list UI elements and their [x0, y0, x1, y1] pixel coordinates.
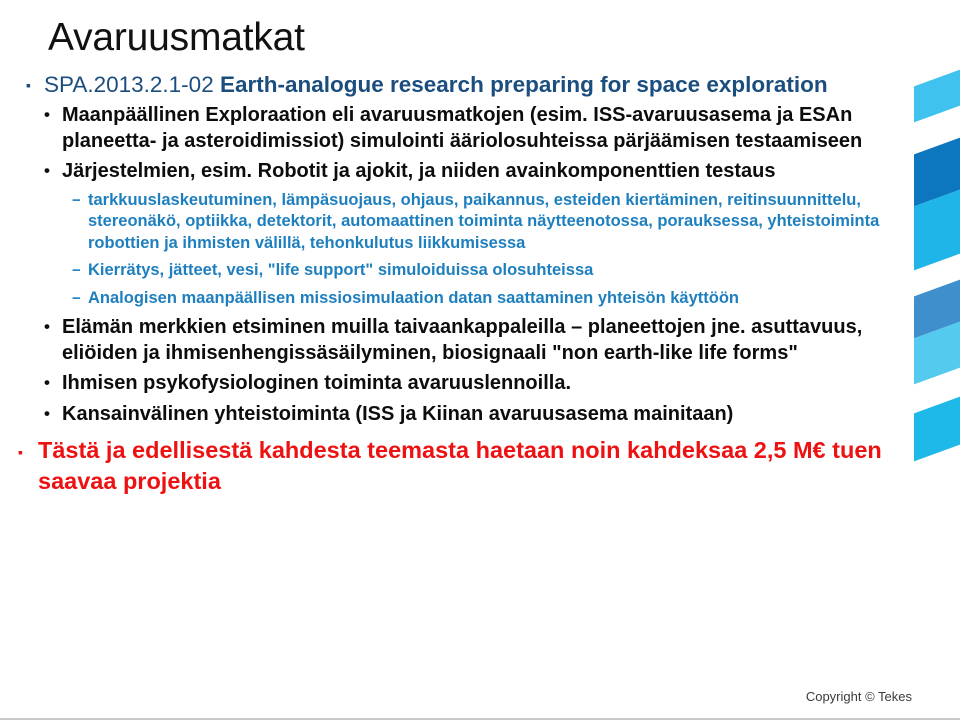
slide-body: ▪ SPA.2013.2.1-02 Earth-analogue researc… [0, 70, 915, 497]
decor-shape-3-bottom-segment [914, 322, 960, 385]
bullet-emphasis-funding-text: Tästä ja edellisestä kahdesta teemasta h… [38, 435, 915, 497]
sub-bullet-2-1: − tarkkuuslaskeutuminen, lämpäsuojaus, o… [72, 190, 915, 255]
dash-bullet-icon: − [72, 190, 81, 212]
decor-shape-3 [914, 288, 960, 376]
bullet-list-level-3: − tarkkuuslaskeutuminen, lämpäsuojaus, o… [0, 190, 915, 310]
bullet-item-1-text: Maanpäällinen Exploraation eli avaruusma… [62, 103, 915, 154]
dot-bullet-icon: • [44, 102, 50, 128]
bullet-emphasis-funding: ▪ Tästä ja edellisestä kahdesta teemasta… [18, 435, 915, 497]
bullet-item-3-text: Elämän merkkien etsiminen muilla taivaan… [62, 315, 915, 366]
bullet-item-1: • Maanpäällinen Exploraation eli avaruus… [44, 103, 915, 154]
dash-bullet-icon: − [72, 260, 81, 282]
decor-shape-4 [914, 405, 960, 453]
decor-shape-2-bottom-segment [914, 190, 960, 271]
dot-bullet-icon: • [44, 158, 50, 184]
decor-shape-2-top-segment [914, 138, 960, 207]
bullet-item-5: • Kansainvälinen yhteistoiminta (ISS ja … [44, 402, 915, 428]
bullet-list-level-1: ▪ SPA.2013.2.1-02 Earth-analogue researc… [0, 70, 915, 497]
call-code: SPA.2013.2.1-02 [44, 72, 220, 97]
bullet-item-2-text: Järjestelmien, esim. Robotit ja ajokit, … [62, 159, 915, 185]
decor-shape-1 [914, 78, 960, 114]
sub-bullet-2-2-text: Kierrätys, jätteet, vesi, "life support"… [88, 260, 915, 282]
dot-bullet-icon: • [44, 370, 50, 396]
sub-bullet-2-2: − Kierrätys, jätteet, vesi, "life suppor… [72, 260, 915, 282]
call-title: Earth-analogue research preparing for sp… [220, 72, 828, 97]
square-bullet-icon: ▪ [26, 71, 31, 100]
dash-bullet-icon: − [72, 288, 81, 310]
square-bullet-icon: ▪ [18, 437, 23, 468]
decor-shape-2 [914, 146, 960, 262]
sub-bullet-2-1-text: tarkkuuslaskeutuminen, lämpäsuojaus, ohj… [88, 190, 915, 255]
decor-shape-1-segment [914, 70, 960, 123]
bullet-item-3: • Elämän merkkien etsiminen muilla taiva… [44, 315, 915, 366]
bullet-item-4-text: Ihmisen psykofysiologinen toiminta avaru… [62, 371, 915, 397]
decor-shape-3-top-segment [914, 280, 960, 339]
dot-bullet-icon: • [44, 314, 50, 340]
bullet-item-5-text: Kansainvälinen yhteistoiminta (ISS ja Ki… [62, 402, 915, 428]
slide-title: Avaruusmatkat [48, 16, 305, 60]
bullet-item-2: • Järjestelmien, esim. Robotit ja ajokit… [44, 159, 915, 185]
dot-bullet-icon: • [44, 401, 50, 427]
copyright-footer: Copyright © Tekes [806, 689, 912, 704]
bullet-call-identifier-text: SPA.2013.2.1-02 Earth-analogue research … [44, 70, 915, 99]
sub-bullet-2-3-text: Analogisen maanpäällisen missiosimulaati… [88, 288, 915, 310]
decor-shape-4-segment [914, 397, 960, 462]
slide: Avaruusmatkat ▪ SPA.2013.2.1-02 Earth-an… [0, 0, 960, 720]
sub-bullet-2-3: − Analogisen maanpäällisen missiosimulaa… [72, 288, 915, 310]
bullet-item-4: • Ihmisen psykofysiologinen toiminta ava… [44, 371, 915, 397]
bullet-call-identifier: ▪ SPA.2013.2.1-02 Earth-analogue researc… [26, 70, 915, 99]
